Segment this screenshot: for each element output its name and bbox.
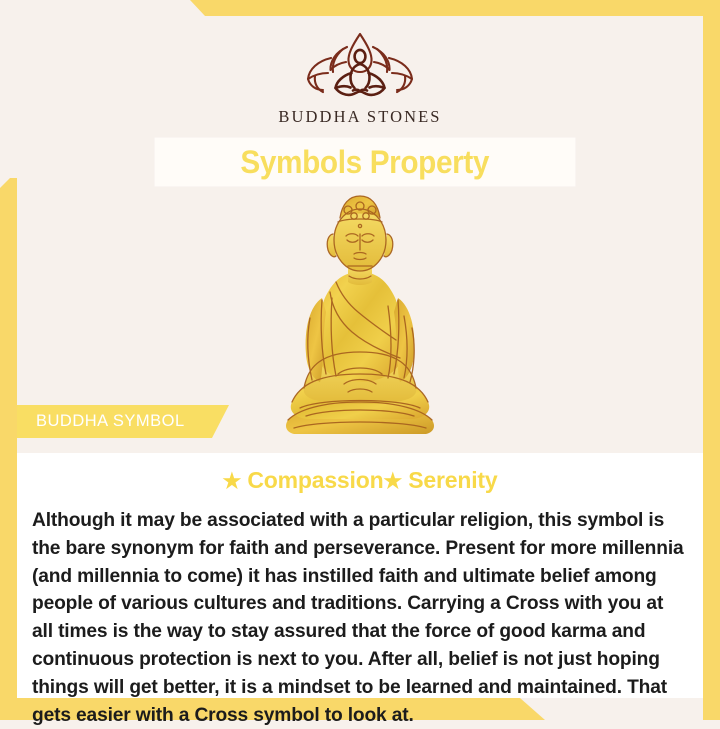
brand-name: BUDDHA STONES [278,107,441,127]
decorative-bar-right [703,0,720,720]
attribute-compassion: Compassion [247,467,383,493]
title-banner: Symbols Property [155,138,575,186]
content-panel: ★ Compassion★ Serenity Although it may b… [17,453,703,698]
description-paragraph: Although it may be associated with a par… [32,507,688,729]
infographic-page: BUDDHA STONES Symbols Property [0,0,720,720]
attributes-subtitle: ★ Compassion★ Serenity [17,467,703,494]
header-section: BUDDHA STONES Symbols Property [17,16,703,453]
brand-logo: BUDDHA STONES [17,30,703,127]
star-icon-left: ★ [223,470,242,493]
buddha-symbol-tag: BUDDHA SYMBOL [17,405,229,438]
star-icon-right: ★ [383,470,402,493]
decorative-bar-top [0,0,720,16]
buddha-symbol-tag-label: BUDDHA SYMBOL [36,412,185,431]
lotus-meditation-logo-icon [290,30,430,102]
golden-seated-buddha-icon [260,188,460,436]
attribute-serenity: Serenity [408,467,497,493]
decorative-bar-left [0,178,17,720]
page-title: Symbols Property [241,144,490,181]
hero-image [17,186,703,436]
